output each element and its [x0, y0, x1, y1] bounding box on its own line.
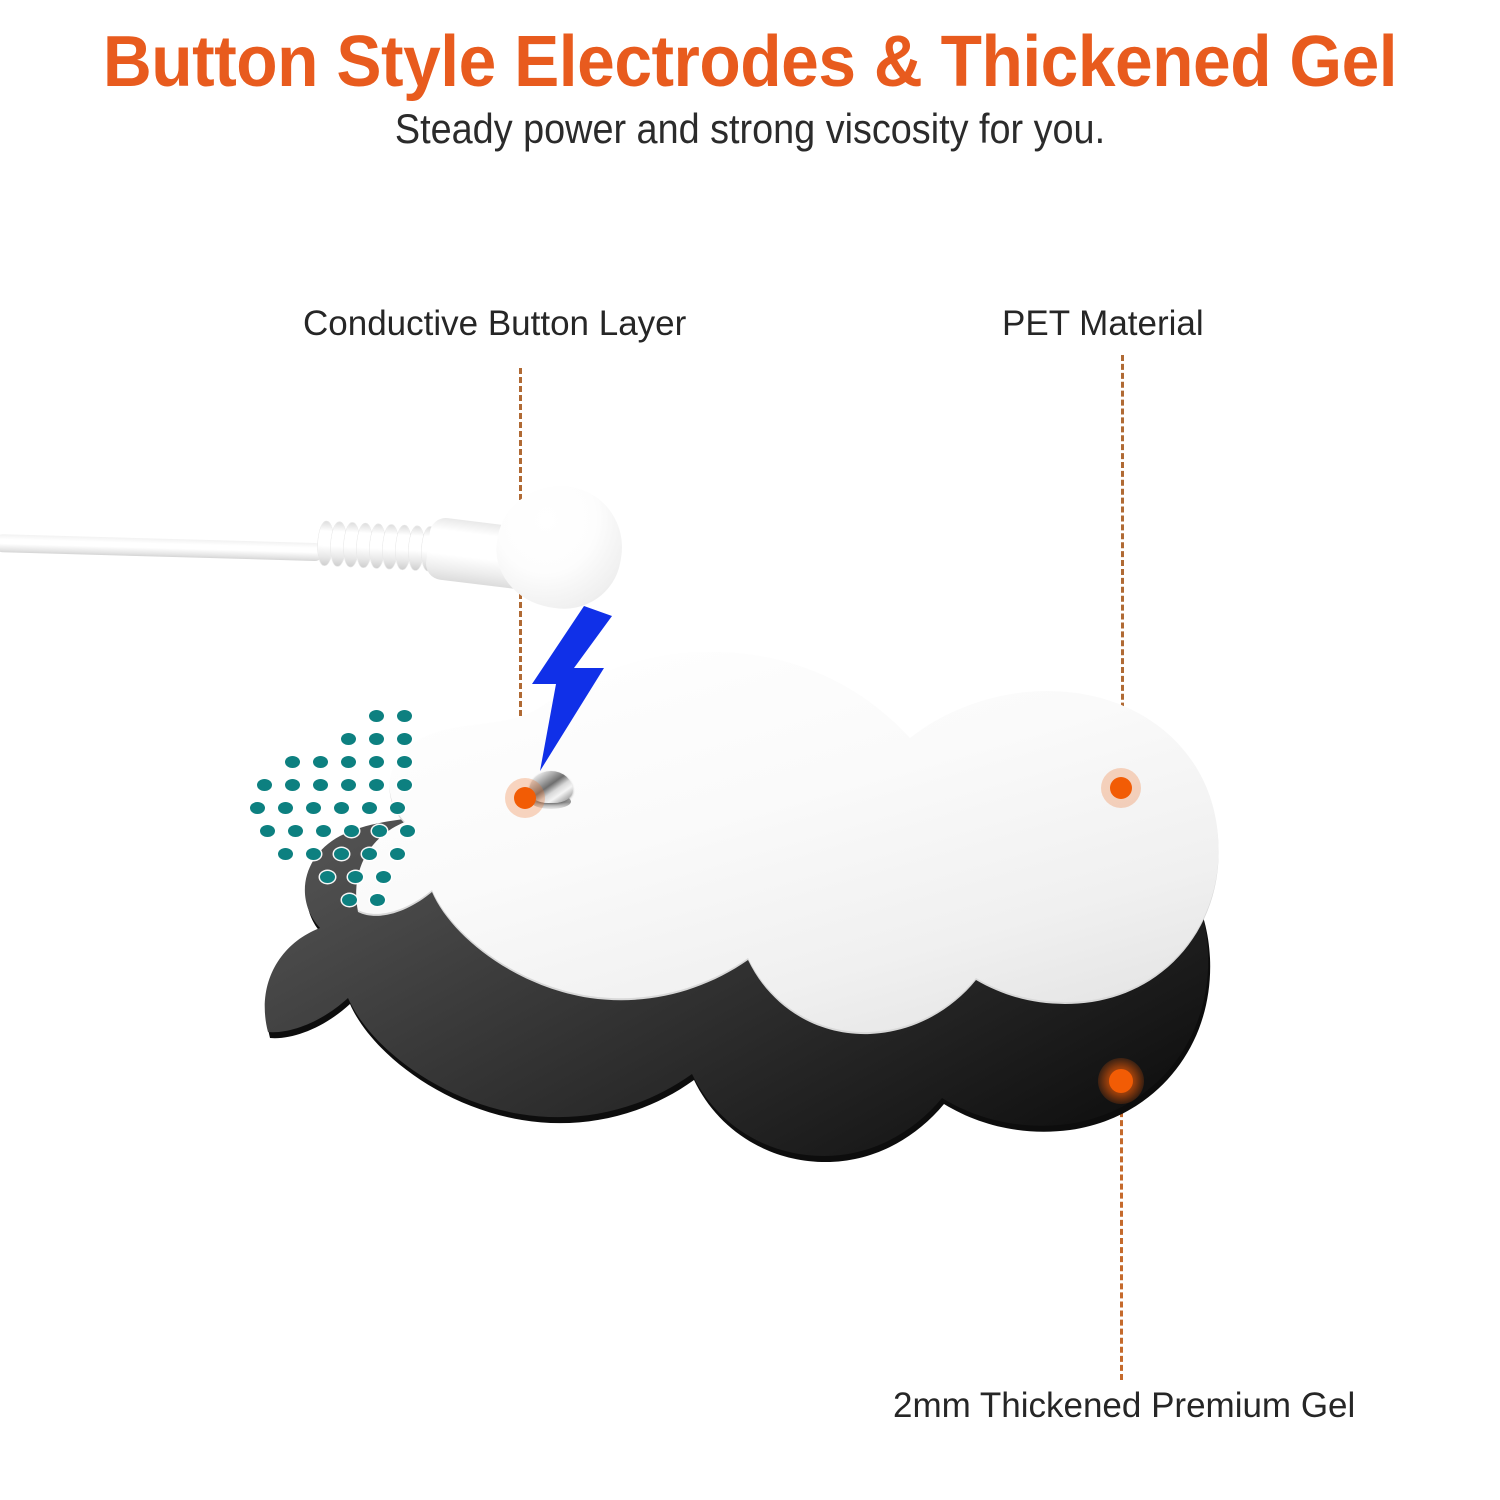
callout-label-thickened-premium-gel: 2mm Thickened Premium Gel — [893, 1385, 1355, 1427]
cable-strain-relief-icon — [317, 521, 441, 571]
callout-marker-thickened-premium-gel — [1098, 1058, 1144, 1104]
electrode-cable-icon — [0, 534, 324, 561]
callout-label-pet-material: PET Material — [1002, 303, 1204, 345]
page-subtitle: Steady power and strong viscosity for yo… — [75, 104, 1425, 154]
callout-label-conductive-button-layer: Conductive Button Layer — [303, 303, 686, 345]
callout-marker-pet-material — [1101, 768, 1141, 808]
infographic-canvas: Button Style Electrodes & Thickened Gel … — [0, 0, 1500, 1500]
page-title: Button Style Electrodes & Thickened Gel — [45, 22, 1455, 102]
lightning-bolt-icon — [526, 606, 612, 771]
callout-marker-conductive-button-layer — [505, 778, 545, 818]
